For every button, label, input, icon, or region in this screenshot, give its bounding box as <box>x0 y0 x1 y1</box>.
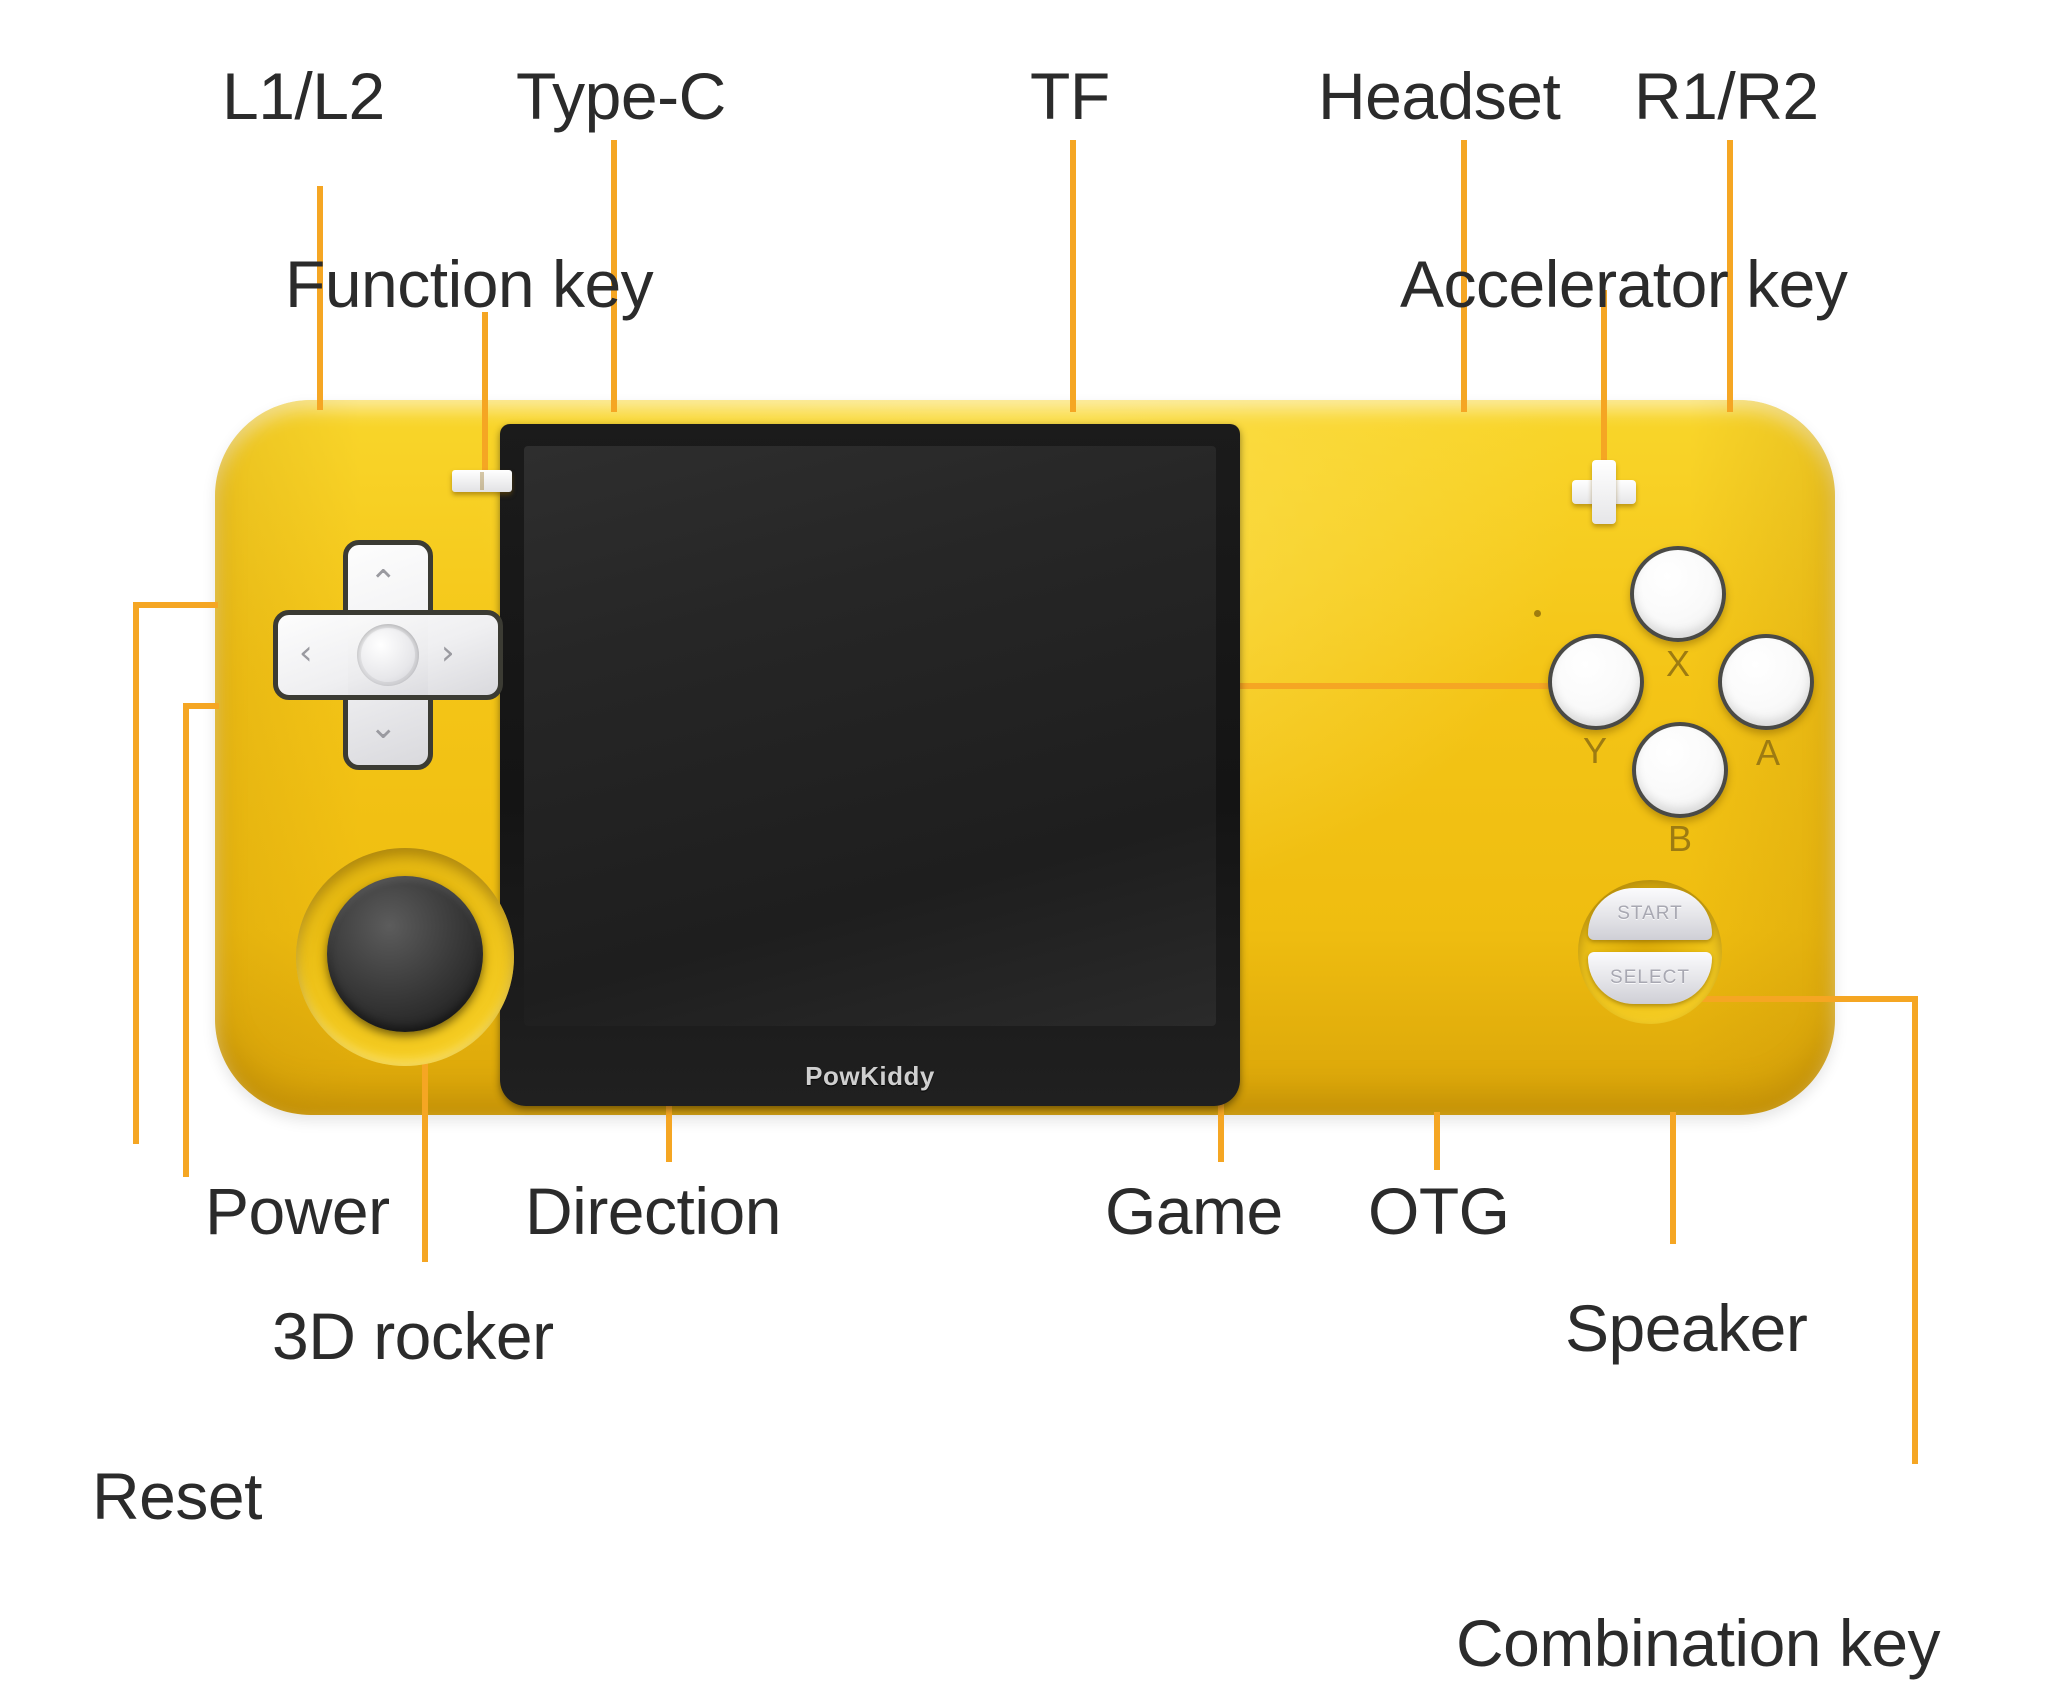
label-tf: TF <box>1030 60 1110 133</box>
analog-stick[interactable] <box>327 876 483 1032</box>
accelerator-key[interactable] <box>1572 460 1636 524</box>
button-b[interactable] <box>1632 722 1728 818</box>
leader-combination-v <box>1912 996 1918 1464</box>
start-select-cluster: START SELECT <box>1578 880 1722 1024</box>
button-y-label: Y <box>1583 730 1607 772</box>
label-speaker: Speaker <box>1565 1292 1807 1365</box>
leader-power-v <box>183 703 189 1177</box>
dpad[interactable]: ⌃ ⌄ ‹ › <box>273 540 503 770</box>
label-headset: Headset <box>1318 60 1560 133</box>
leader-speaker <box>1670 1112 1676 1244</box>
vent-dot <box>1534 610 1541 617</box>
button-y[interactable] <box>1548 634 1644 730</box>
chevron-left-icon[interactable]: ‹ <box>299 636 313 670</box>
analog-stick-well <box>296 848 514 1066</box>
label-r1r2: R1/R2 <box>1634 60 1819 133</box>
leader-game-h <box>1218 683 1598 689</box>
label-direction: Direction <box>525 1175 781 1248</box>
chevron-up-icon[interactable]: ⌃ <box>369 566 398 600</box>
leader-tf <box>1070 140 1076 412</box>
chevron-right-icon[interactable]: › <box>441 636 455 670</box>
leader-function-key <box>482 312 488 478</box>
leader-otg <box>1434 1112 1440 1170</box>
label-reset: Reset <box>92 1460 262 1533</box>
label-l1l2: L1/L2 <box>222 60 385 133</box>
select-button[interactable]: SELECT <box>1588 952 1712 1004</box>
button-a-label: A <box>1756 732 1780 774</box>
label-typec: Type-C <box>516 60 726 133</box>
brand-logo: PowKiddy <box>500 1061 1240 1092</box>
leader-reset-h <box>133 602 218 608</box>
button-b-label: B <box>1668 818 1692 860</box>
screen-bezel: PowKiddy <box>500 424 1240 1106</box>
start-button[interactable]: START <box>1588 888 1712 940</box>
button-x-label: X <box>1666 643 1690 685</box>
button-a[interactable] <box>1718 634 1814 730</box>
function-key[interactable] <box>452 470 512 492</box>
screen-panel <box>524 446 1216 1026</box>
diagram-canvas: PowKiddy ⌃ ⌄ ‹ › X Y A B START SELECT <box>0 0 2048 1700</box>
label-combination-key: Combination key exit game <box>1428 1462 1968 1700</box>
button-x[interactable] <box>1630 546 1726 642</box>
label-accelerator-key: Accelerator key <box>1400 248 1847 321</box>
dpad-center-hub <box>357 624 419 686</box>
chevron-down-icon[interactable]: ⌄ <box>369 710 398 744</box>
label-otg: OTG <box>1368 1175 1510 1248</box>
label-3d-rocker: 3D rocker <box>272 1300 554 1373</box>
label-combination-line1: Combination key <box>1428 1607 1968 1680</box>
plus-icon-vertical <box>1592 460 1616 524</box>
label-game: Game <box>1105 1175 1283 1248</box>
label-function-key: Function key <box>285 248 653 321</box>
leader-reset-v <box>133 602 139 1144</box>
label-power: Power <box>205 1175 390 1248</box>
